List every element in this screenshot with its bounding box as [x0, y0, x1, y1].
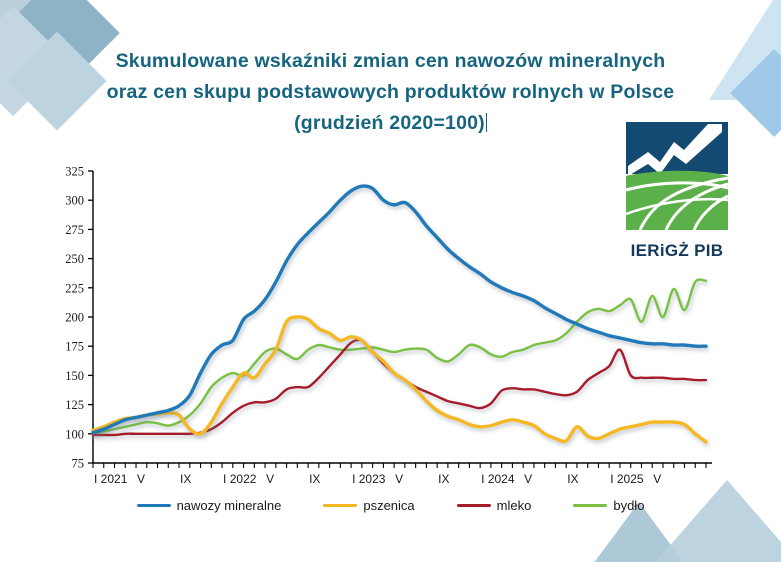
title-line-1: Skumulowane wskaźniki zmian cen nawozów … — [0, 46, 781, 77]
y-axis-tick-label: 325 — [65, 165, 84, 179]
y-axis-tick-label: 250 — [65, 252, 84, 266]
x-axis-tick-label: I 2022 — [223, 472, 257, 486]
title-line-3-text: (grudzień 2020=100) — [294, 112, 485, 134]
legend-label: nawozy mineralne — [177, 498, 282, 513]
y-axis-tick-label: 300 — [65, 194, 84, 208]
x-axis-tick-label: IX — [309, 472, 320, 486]
slide-canvas: Skumulowane wskaźniki zmian cen nawozów … — [0, 0, 781, 562]
y-axis-tick-label: 225 — [65, 281, 84, 295]
legend-item: pszenica — [323, 498, 414, 513]
legend-label: bydło — [613, 498, 644, 513]
y-axis-tick-label: 200 — [65, 311, 84, 325]
legend-swatch-icon — [573, 504, 607, 508]
y-axis-tick-label: 275 — [65, 223, 84, 237]
y-axis-tick-label: 75 — [72, 457, 85, 471]
line-chart: 75100125150175200225250275300325I 2021VI… — [0, 150, 781, 500]
x-axis-tick-label: I 2025 — [610, 472, 644, 486]
x-axis-tick-label: V — [395, 472, 403, 486]
y-axis-tick-label: 125 — [65, 398, 84, 412]
x-axis-tick-label: V — [266, 472, 274, 486]
text-caret — [486, 113, 487, 132]
legend-swatch-icon — [137, 504, 171, 508]
title-line-2: oraz cen skupu podstawowych produktów ro… — [0, 77, 781, 108]
x-axis-tick-label: V — [524, 472, 532, 486]
legend-swatch-icon — [323, 504, 357, 508]
legend-item: mleko — [457, 498, 532, 513]
x-axis-tick-label: I 2024 — [481, 472, 515, 486]
x-axis-tick-label: I 2021 — [94, 472, 128, 486]
y-axis-tick-label: 150 — [65, 369, 84, 383]
x-axis-tick-label: IX — [180, 472, 191, 486]
x-axis-tick-label: V — [653, 472, 661, 486]
x-axis-tick-label: V — [137, 472, 145, 486]
legend-item: nawozy mineralne — [137, 498, 282, 513]
x-axis-tick-label: IX — [567, 472, 578, 486]
legend-label: pszenica — [363, 498, 414, 513]
chart-series — [93, 186, 706, 442]
chart-plot-area: 75100125150175200225250275300325I 2021VI… — [0, 150, 781, 500]
legend-swatch-icon — [457, 504, 491, 508]
legend-label: mleko — [497, 498, 532, 513]
chart-axes: 75100125150175200225250275300325I 2021VI… — [65, 165, 712, 487]
x-axis-tick-label: IX — [438, 472, 449, 486]
chart-legend: nawozy mineralnepszenicamlekobydło — [0, 498, 781, 513]
deco-square — [0, 0, 62, 52]
y-axis-tick-label: 100 — [65, 427, 84, 441]
legend-item: bydło — [573, 498, 644, 513]
y-axis-tick-label: 175 — [65, 340, 84, 354]
x-axis-tick-label: I 2023 — [352, 472, 386, 486]
